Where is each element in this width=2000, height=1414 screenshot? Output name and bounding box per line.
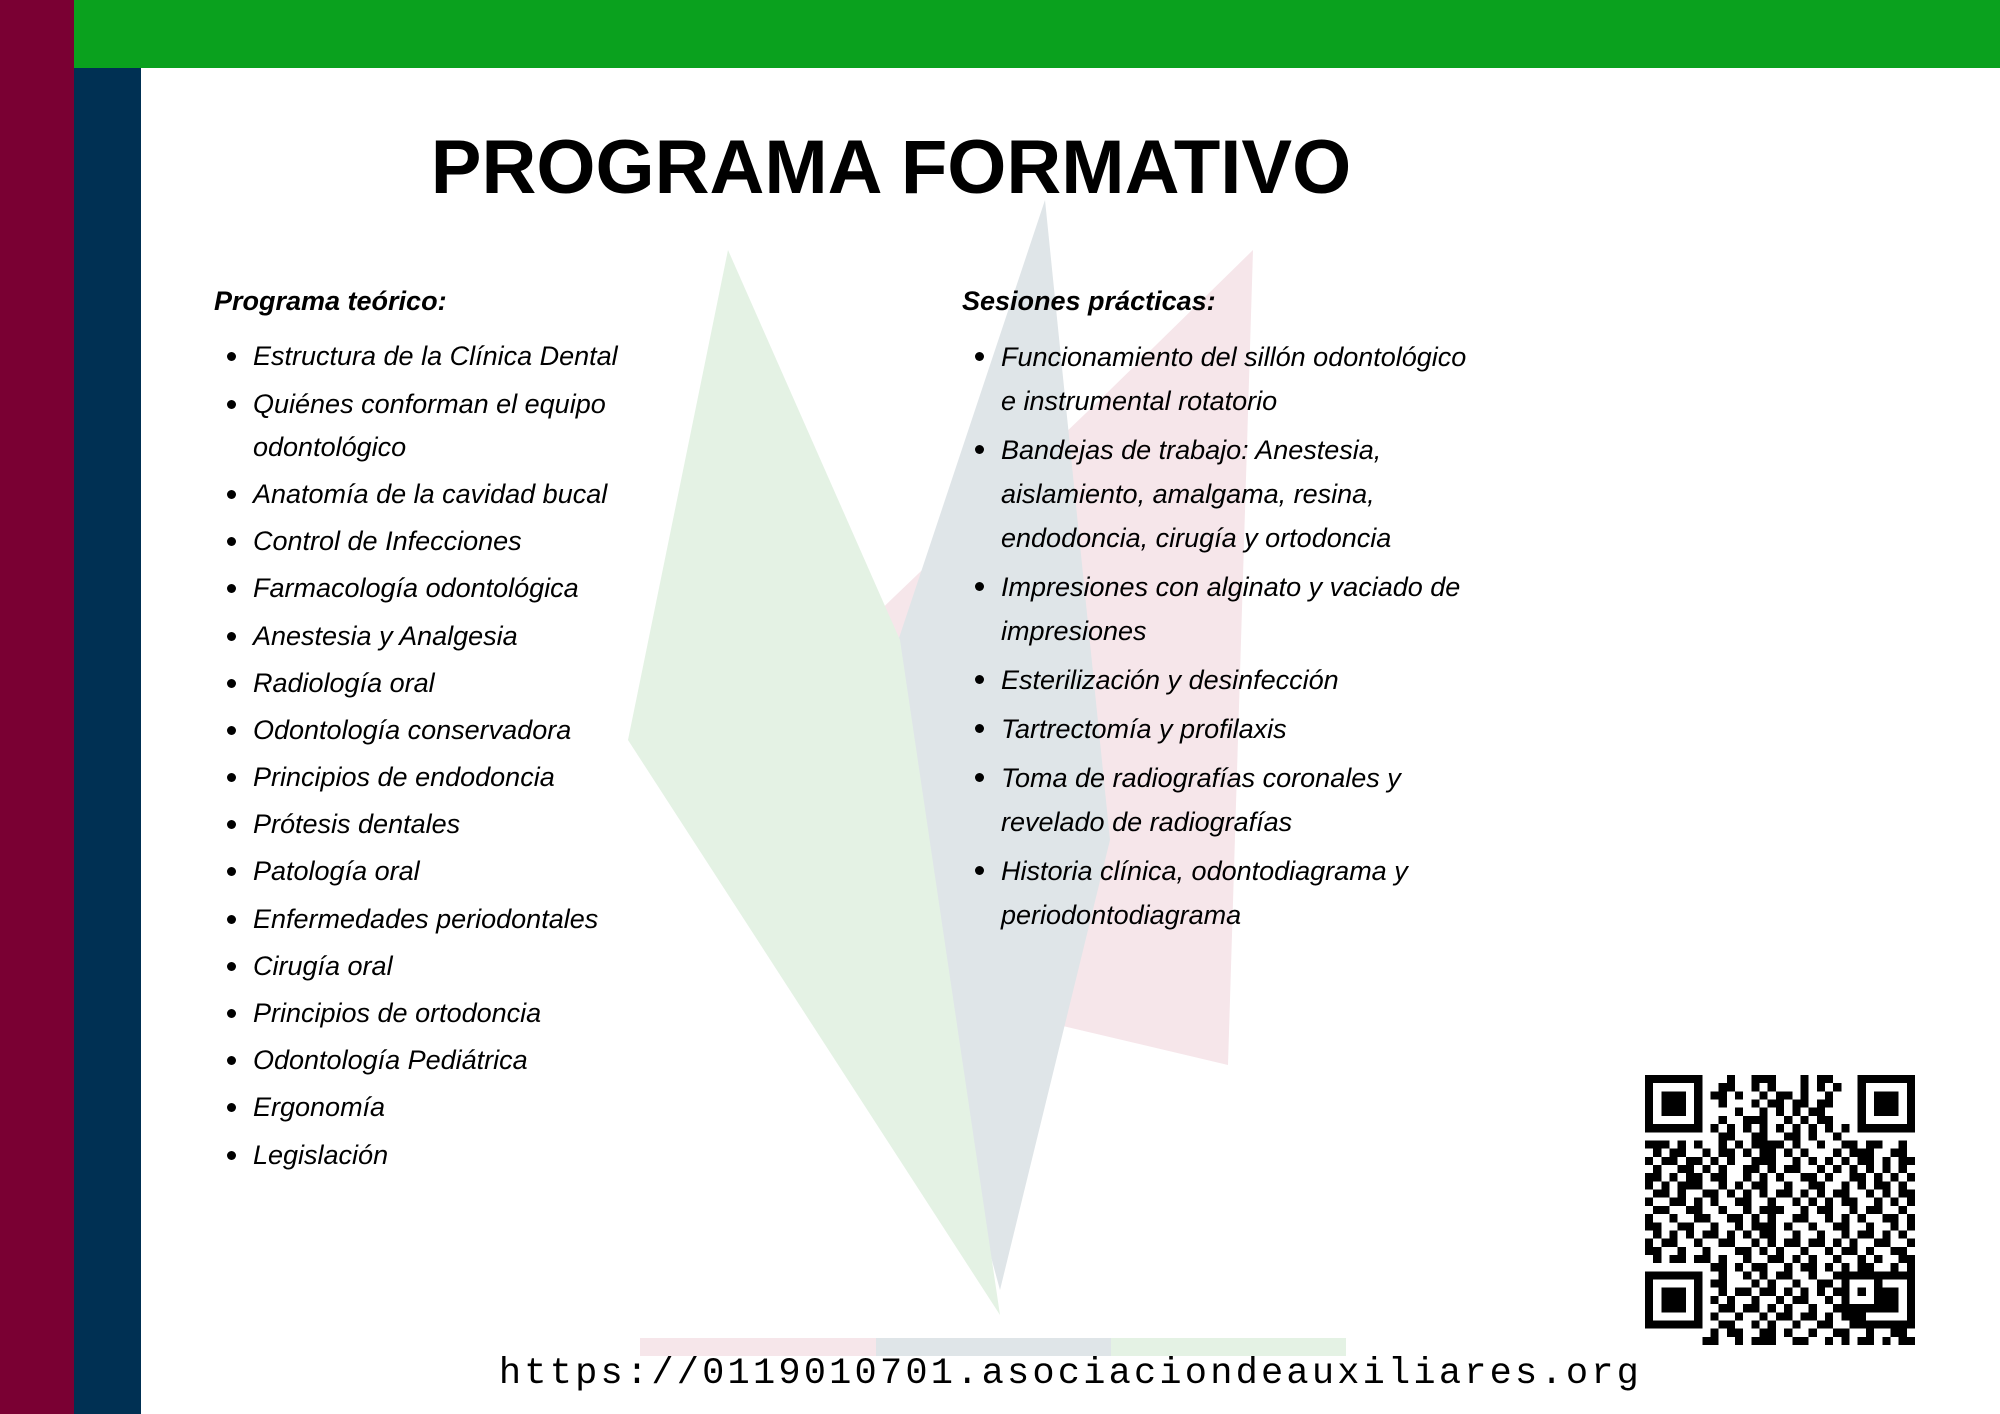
list-item: Bandejas de trabajo: Anestesia, aislamie… (962, 428, 1482, 560)
list-item: Patología oral (214, 850, 734, 893)
practice-list: Funcionamiento del sillón odontológico e… (962, 335, 1482, 937)
theory-list: Estructura de la Clínica Dental Quiénes … (214, 335, 734, 1176)
list-item: Historia clínica, odontodiagrama y perio… (962, 849, 1482, 937)
list-item: Toma de radiografías coronales y revelad… (962, 756, 1482, 844)
practice-heading: Sesiones prácticas: (962, 285, 1482, 317)
list-item: Farmacología odontológica (214, 567, 734, 610)
qr-code-icon[interactable] (1645, 1075, 1915, 1345)
list-item: Legislación (214, 1134, 734, 1177)
theory-heading: Programa teórico: (214, 285, 734, 317)
list-item: Quiénes conforman el equipo odontológico (214, 383, 734, 469)
list-item: Estructura de la Clínica Dental (214, 335, 734, 378)
left-navy-bar (74, 68, 141, 1414)
list-item: Enfermedades periodontales (214, 898, 734, 941)
slide-root: PROGRAMA FORMATIVO Programa teórico: Est… (0, 0, 2000, 1414)
page-title: PROGRAMA FORMATIVO (141, 128, 1641, 208)
list-item: Radiología oral (214, 662, 734, 705)
list-item: Principios de endodoncia (214, 756, 734, 799)
list-item: Ergonomía (214, 1086, 734, 1129)
list-item: Cirugía oral (214, 945, 734, 988)
list-item: Impresiones con alginato y vaciado de im… (962, 565, 1482, 653)
list-item: Principios de ortodoncia (214, 992, 734, 1035)
qr-code-svg (1645, 1075, 1915, 1345)
list-item: Control de Infecciones (214, 520, 734, 563)
list-item: Esterilización y desinfección (962, 658, 1482, 702)
list-item: Odontología Pediátrica (214, 1039, 734, 1082)
list-item: Anatomía de la cavidad bucal (214, 473, 734, 516)
list-item: Funcionamiento del sillón odontológico e… (962, 335, 1482, 423)
list-item: Odontología conservadora (214, 709, 734, 752)
theory-column: Programa teórico: Estructura de la Clíni… (214, 285, 734, 1181)
list-item: Tartrectomía y profilaxis (962, 707, 1482, 751)
practice-column: Sesiones prácticas: Funcionamiento del s… (962, 285, 1482, 942)
left-maroon-bar (0, 0, 74, 1414)
top-green-bar (74, 0, 2000, 68)
footer-url[interactable]: https://0119010701.asociaciondeauxiliare… (141, 1353, 2000, 1395)
list-item: Prótesis dentales (214, 803, 734, 846)
list-item: Anestesia y Analgesia (214, 615, 734, 658)
